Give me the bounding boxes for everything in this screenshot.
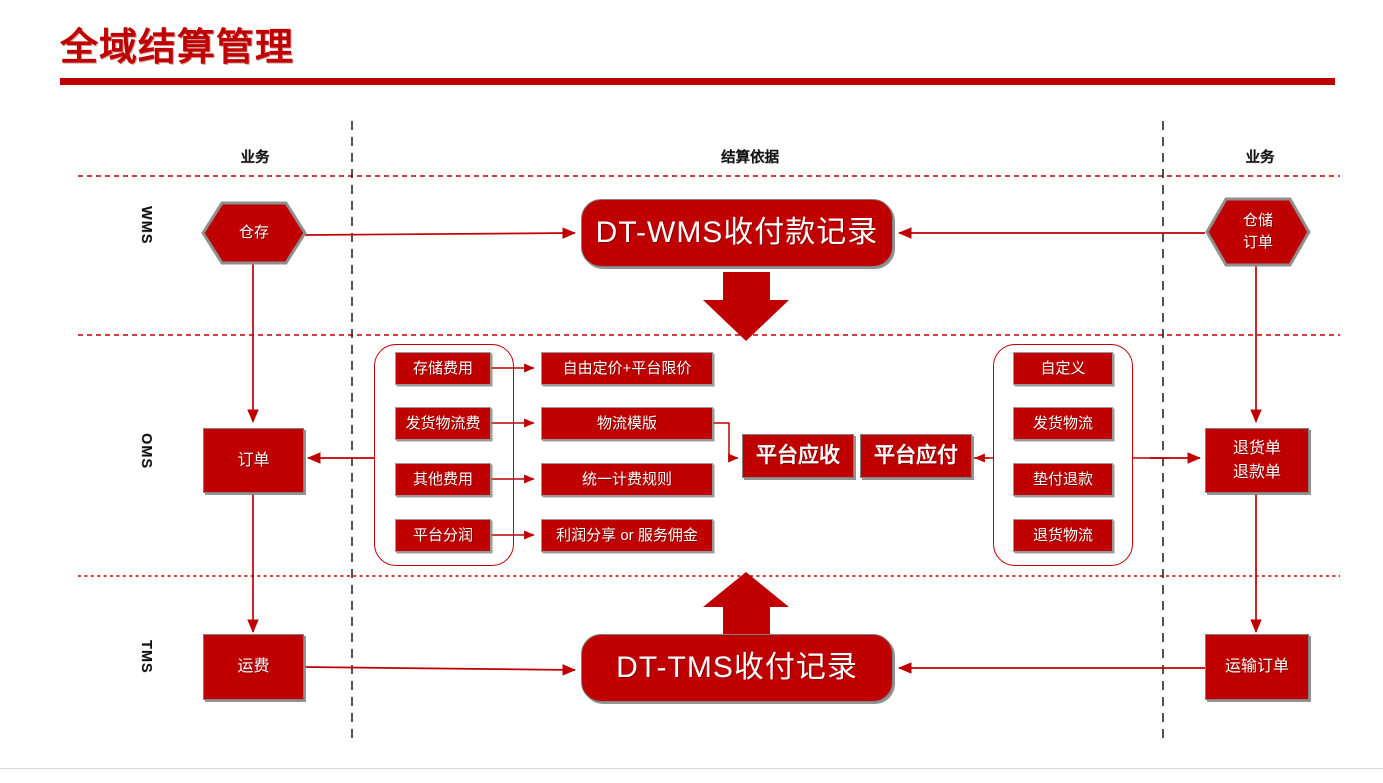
payable-item-advance-refund[interactable]: 垫付退款 — [1013, 463, 1113, 496]
node-dt-wms-payment-record[interactable]: DT-WMS收付款记录 — [581, 199, 893, 267]
rule-item-profit-or-commission[interactable]: 利润分享 or 服务佣金 — [541, 519, 713, 552]
rule-item-unified-billing[interactable]: 统一计费规则 — [541, 463, 713, 496]
payable-item-custom[interactable]: 自定义 — [1013, 352, 1113, 385]
row-label-oms: OMS — [138, 433, 154, 469]
node-warehouse-stock[interactable]: 仓存 — [200, 200, 308, 266]
column-header-middle: 结算依据 — [650, 146, 850, 167]
fee-item-platform-profit-share[interactable]: 平台分润 — [395, 519, 491, 552]
title-underline — [60, 78, 1335, 85]
page-title: 全域结算管理 — [60, 16, 294, 71]
payable-item-return-logistics[interactable]: 退货物流 — [1013, 519, 1113, 552]
column-header-right: 业务 — [1185, 146, 1335, 167]
row-label-wms: WMS — [138, 206, 154, 244]
node-dt-tms-payment-record[interactable]: DT-TMS收付记录 — [581, 634, 893, 702]
hexagon-shape-icon — [1204, 196, 1312, 268]
fee-item-storage[interactable]: 存储费用 — [395, 352, 491, 385]
node-freight-fee[interactable]: 运费 — [203, 634, 304, 700]
fee-item-shipping-logistics[interactable]: 发货物流费 — [395, 407, 491, 440]
node-return-refund-order[interactable]: 退货单 退款单 — [1205, 428, 1309, 493]
row-label-tms: TMS — [138, 640, 154, 674]
block-arrow-up-icon — [703, 572, 789, 638]
block-arrow-down-icon — [703, 272, 789, 341]
node-platform-receivable[interactable]: 平台应收 — [742, 434, 854, 478]
footer-divider — [0, 768, 1383, 769]
node-transport-order[interactable]: 运输订单 — [1205, 634, 1309, 700]
payable-item-shipping-logistics[interactable]: 发货物流 — [1013, 407, 1113, 440]
node-order[interactable]: 订单 — [203, 428, 304, 493]
node-platform-payable[interactable]: 平台应付 — [860, 434, 972, 478]
node-warehouse-order[interactable]: 仓储 订单 — [1204, 196, 1312, 268]
fee-item-other[interactable]: 其他费用 — [395, 463, 491, 496]
rule-item-free-pricing[interactable]: 自由定价+平台限价 — [541, 352, 713, 385]
rule-item-logistics-template[interactable]: 物流模版 — [541, 407, 713, 440]
column-header-left: 业务 — [180, 146, 330, 167]
node-label-line1: 退货单 — [1233, 437, 1281, 460]
hexagon-shape-icon — [200, 200, 308, 266]
node-label-line2: 退款单 — [1233, 461, 1281, 484]
